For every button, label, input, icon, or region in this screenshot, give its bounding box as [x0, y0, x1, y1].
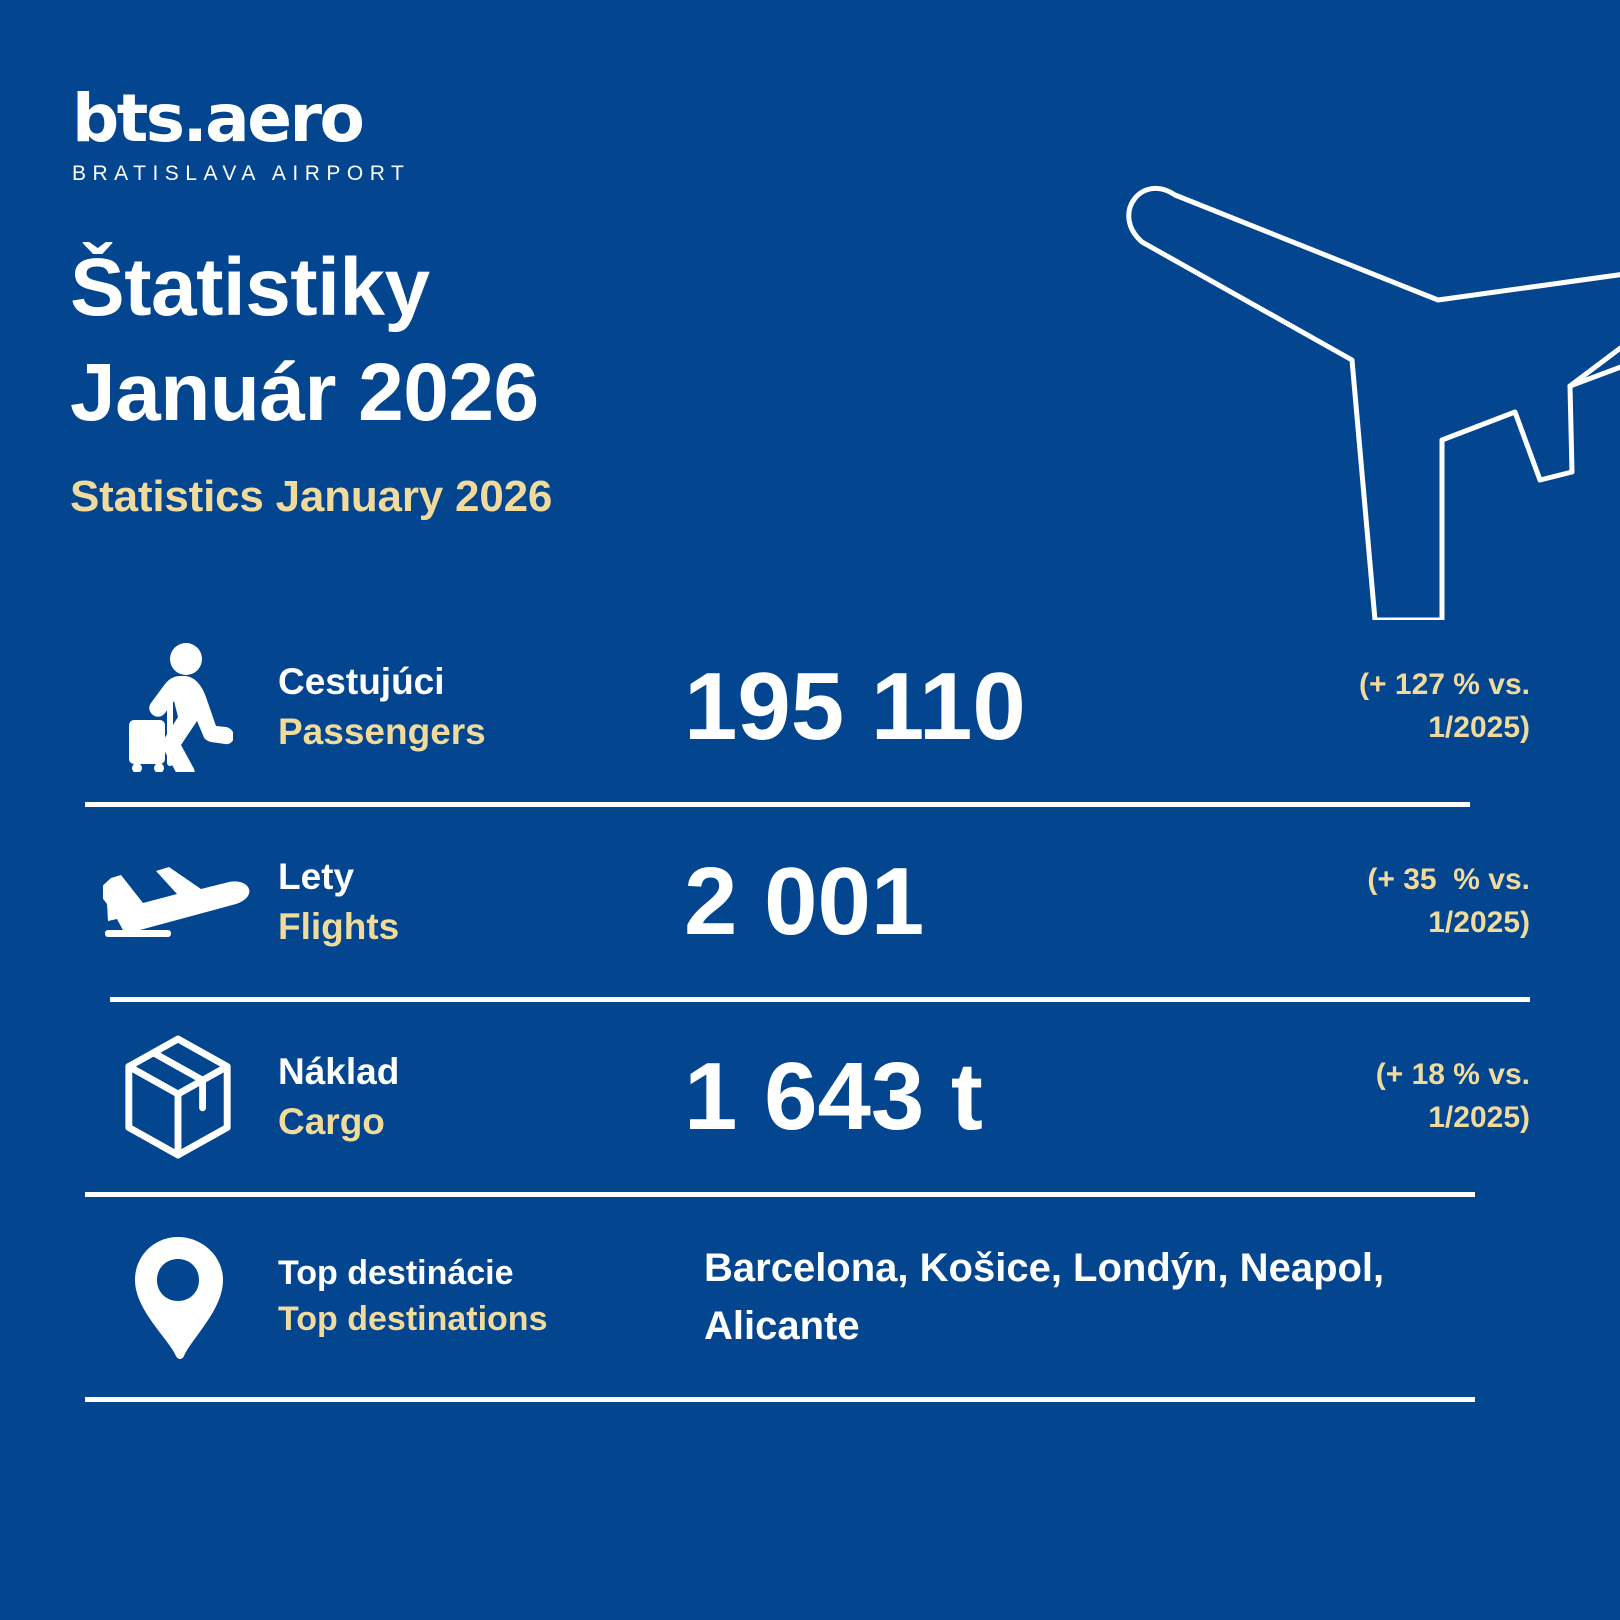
airplane-takeoff-icon — [95, 862, 260, 942]
statistics-infographic: bts.aero BRATISLAVA AIRPORT Štatistiky J… — [0, 0, 1620, 1620]
title-line-2: Január 2026 — [70, 341, 890, 446]
logo-subtitle: BRATISLAVA AIRPORT — [72, 162, 410, 186]
passenger-with-suitcase-icon — [95, 642, 260, 772]
stat-row-destinations: Top destinácie Top destinations Barcelon… — [0, 1197, 1620, 1397]
stat-value-cargo: 1 643 t — [670, 1049, 1300, 1145]
label-en-destinations: Top destinations — [278, 1297, 690, 1343]
stat-value-flights: 2 001 — [670, 854, 1300, 950]
logo-wordmark: bts.aero — [72, 86, 410, 152]
label-sk-destinations: Top destinácie — [278, 1251, 690, 1297]
stat-labels-flights: Lety Flights — [260, 852, 670, 952]
brand-logo[interactable]: bts.aero BRATISLAVA AIRPORT — [72, 86, 410, 186]
stat-labels-destinations: Top destinácie Top destinations — [260, 1251, 690, 1343]
stat-value-passengers: 195 110 — [670, 659, 1300, 755]
airplane-outline-decoration — [1120, 150, 1620, 620]
label-sk-cargo: Náklad — [278, 1047, 670, 1097]
label-sk-passengers: Cestujúci — [278, 657, 670, 707]
page-title: Štatistiky Január 2026 Statistics Januar… — [70, 236, 890, 522]
title-subtitle-english: Statistics January 2026 — [70, 472, 890, 522]
stat-delta-passengers: (+ 127 % vs. 1/2025) — [1300, 664, 1530, 749]
row-divider-4 — [85, 1397, 1475, 1402]
map-pin-icon — [95, 1235, 260, 1360]
stat-row-flights: Lety Flights 2 001 (+ 35 % vs. 1/2025) — [0, 807, 1620, 997]
stat-delta-cargo: (+ 18 % vs. 1/2025) — [1300, 1054, 1530, 1139]
title-line-1: Štatistiky — [70, 236, 890, 341]
label-sk-flights: Lety — [278, 852, 670, 902]
stat-value-destinations: Barcelona, Košice, Londýn, Neapol, Alica… — [690, 1239, 1530, 1355]
label-en-passengers: Passengers — [278, 707, 670, 757]
stat-row-passengers: Cestujúci Passengers 195 110 (+ 127 % vs… — [0, 612, 1620, 802]
cargo-box-icon — [95, 1033, 260, 1161]
stat-row-cargo: Náklad Cargo 1 643 t (+ 18 % vs. 1/2025) — [0, 1002, 1620, 1192]
stat-labels-cargo: Náklad Cargo — [260, 1047, 670, 1147]
stat-delta-flights: (+ 35 % vs. 1/2025) — [1300, 859, 1530, 944]
statistics-rows: Cestujúci Passengers 195 110 (+ 127 % vs… — [0, 612, 1620, 1402]
label-en-cargo: Cargo — [278, 1097, 670, 1147]
label-en-flights: Flights — [278, 902, 670, 952]
stat-labels-passengers: Cestujúci Passengers — [260, 657, 670, 757]
